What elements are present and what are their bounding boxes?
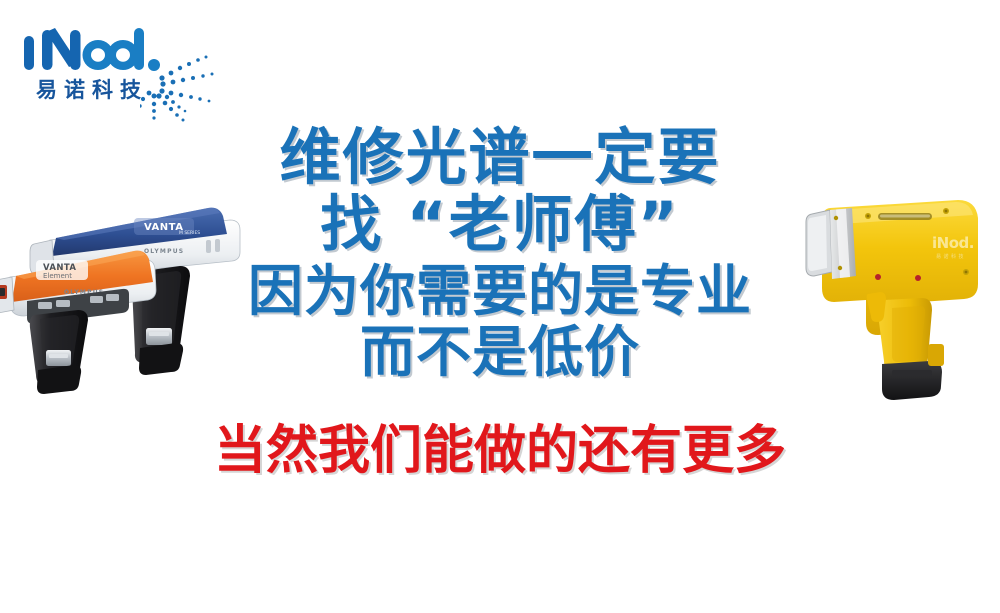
svg-text:易诺科技: 易诺科技: [936, 253, 966, 260]
svg-text:Element: Element: [43, 272, 72, 280]
device-orange-unit: VANTA Element OLYMPUS: [0, 251, 156, 394]
promotional-banner: 易诺科技: [0, 0, 1000, 613]
headline-line-4: 而不是低价: [150, 324, 850, 381]
headline-line-1: 维修光谱一定要: [150, 126, 850, 189]
headline-block: 维修光谱一定要 找 “老师傅” 因为你需要的是专业 而不是低价: [150, 126, 850, 381]
logo-chinese-name: 易诺科技: [36, 80, 148, 101]
svg-text:iNod.: iNod.: [932, 234, 974, 252]
headline-line-3: 因为你需要的是专业: [150, 263, 850, 320]
headline-line-2: 找 “老师傅”: [150, 193, 850, 256]
radiating-dots-burst-icon: [140, 48, 232, 126]
subline-red: 当然我们能做的还有更多: [150, 424, 850, 479]
company-logo: 易诺科技: [22, 22, 237, 127]
